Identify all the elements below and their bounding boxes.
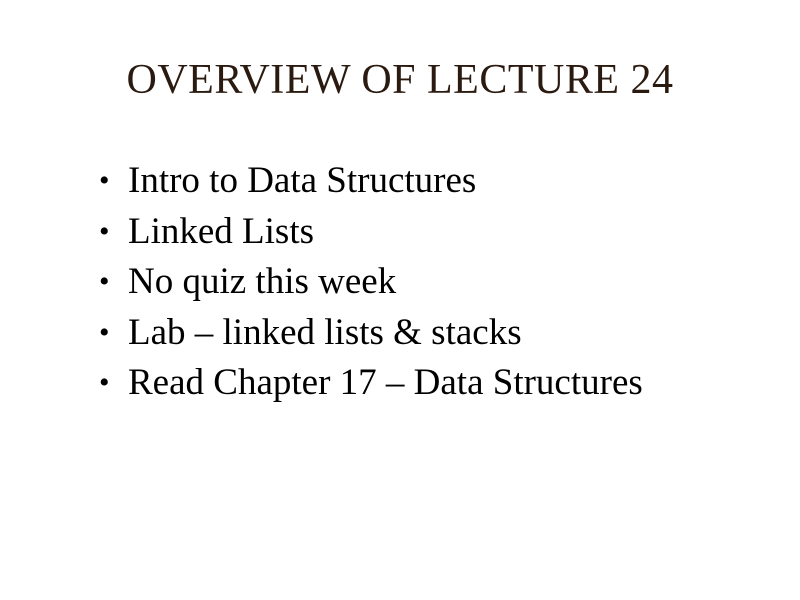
list-item: • Linked Lists <box>96 207 756 258</box>
page-title: OVERVIEW OF LECTURE 24 <box>0 55 800 105</box>
list-item-label: Intro to Data Structures <box>128 156 476 207</box>
list-item: • Intro to Data Structures <box>96 156 756 207</box>
list-item-label: No quiz this week <box>128 257 396 308</box>
slide-canvas: OVERVIEW OF LECTURE 24 • Intro to Data S… <box>0 0 800 600</box>
list-item-label: Lab – linked lists & stacks <box>128 308 522 359</box>
list-item: • Read Chapter 17 – Data Structures <box>96 358 756 409</box>
list-item-label: Linked Lists <box>128 207 314 258</box>
list-item: • Lab – linked lists & stacks <box>96 308 756 359</box>
bullet-point-icon: • <box>99 257 113 308</box>
bullet-list: • Intro to Data Structures • Linked List… <box>96 156 756 409</box>
bullet-point-icon: • <box>99 156 113 207</box>
bullet-point-icon: • <box>99 308 113 359</box>
list-item: • No quiz this week <box>96 257 756 308</box>
bullet-point-icon: • <box>99 358 113 409</box>
bullet-point-icon: • <box>99 207 113 258</box>
list-item-label: Read Chapter 17 – Data Structures <box>128 358 643 409</box>
